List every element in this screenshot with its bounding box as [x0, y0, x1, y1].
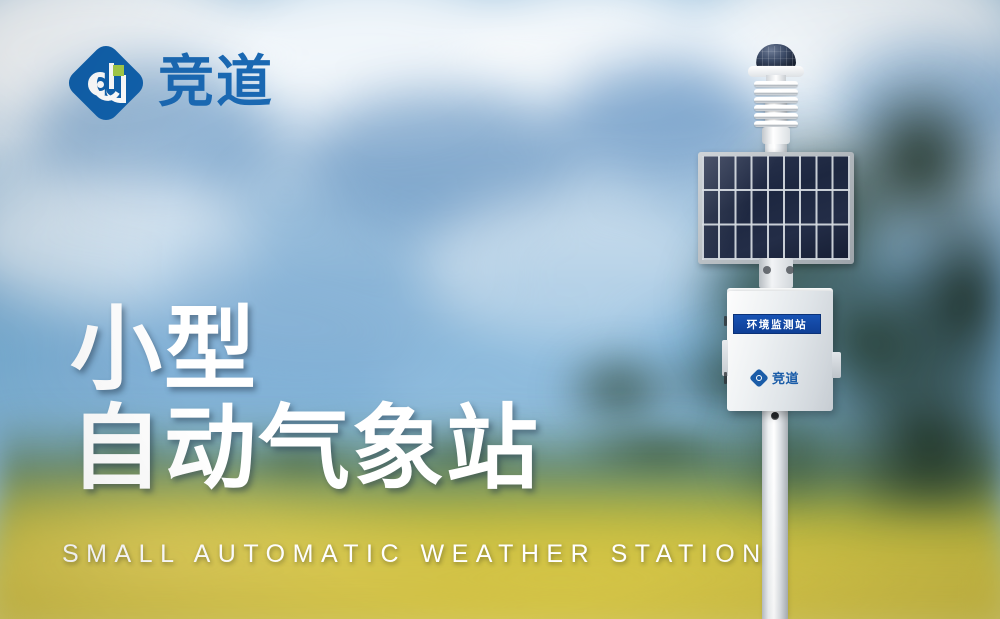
weather-station-banner: 环境监测站 竞道 竞道 小型 自动气象站 SMALL AUTOMATIC WEA… [0, 0, 1000, 619]
solar-cells [702, 156, 850, 260]
headline-line-2: 自动气象站 [70, 399, 540, 498]
control-box-label: 环境监测站 [733, 314, 821, 334]
control-box-vent-icon [724, 372, 727, 384]
control-enclosure-icon [727, 291, 833, 411]
jingdao-diamond-logo-icon [68, 45, 144, 121]
brand-logo[interactable]: 竞道 [68, 45, 274, 121]
shield-plate [754, 113, 798, 119]
page-title: 小型 自动气象站 [70, 300, 540, 499]
pole-bolt-icon [771, 412, 779, 420]
control-box-brand-name: 竞道 [772, 368, 799, 387]
shield-plate [754, 89, 798, 95]
logo-ring-shape [756, 375, 762, 381]
control-box-left-flange [722, 340, 728, 376]
page-subtitle: SMALL AUTOMATIC WEATHER STATION [62, 540, 768, 569]
shield-plate [754, 81, 798, 87]
logo-j-hook-shape [106, 75, 126, 103]
control-box-label-text: 环境监测站 [747, 317, 808, 332]
bracket-bolt-icon [786, 266, 794, 274]
ultrasonic-weather-sensor-icon [742, 44, 810, 144]
sensor-dome-facets [756, 46, 796, 66]
brand-name-text: 竞道 [158, 55, 274, 111]
control-box-right-flange [832, 352, 841, 378]
logo-green-square-accent [113, 65, 124, 76]
mounting-pole-lower [762, 410, 788, 619]
jingdao-diamond-logo-icon [750, 369, 768, 387]
shield-plate [754, 97, 798, 103]
control-box-vent-icon [724, 316, 727, 326]
sensor-base [762, 127, 790, 144]
headline-line-1: 小型 [70, 300, 540, 399]
bracket-bolt-icon [763, 266, 771, 274]
shield-plate [754, 105, 798, 111]
radiation-shield [754, 81, 798, 127]
solar-panel-icon [698, 152, 854, 264]
logo-center-dot [97, 81, 104, 88]
control-box-brand: 竞道 [750, 368, 799, 387]
